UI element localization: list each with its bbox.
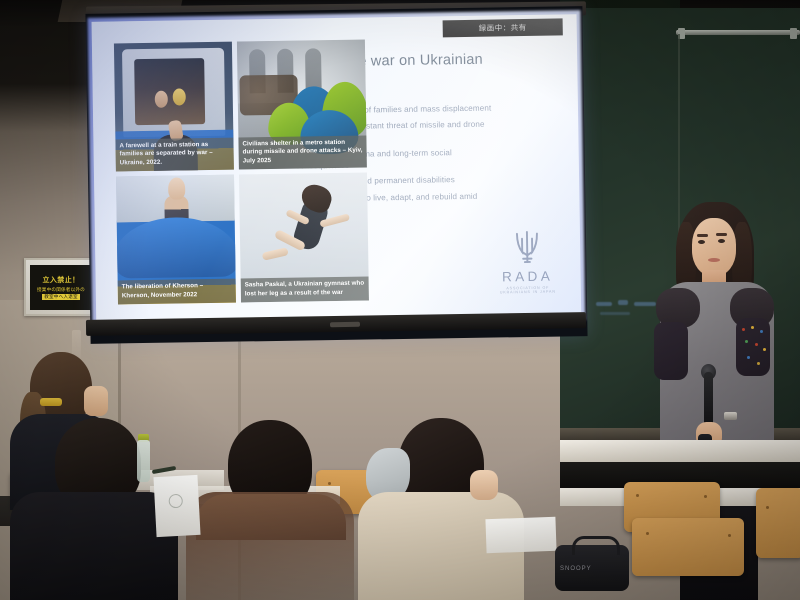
bag-handle [572, 536, 620, 555]
child-on-shoulders [168, 177, 185, 199]
student-hand [470, 470, 498, 500]
embroidery-stitch [760, 330, 763, 333]
chalkboard-rail-clip [790, 28, 797, 39]
embroidery-stitch [751, 326, 754, 329]
embroidery-stitch [755, 343, 758, 346]
hoodie-collar [196, 494, 346, 540]
wall-notice-inner: 立入禁止！ 授業中の関係者以外の 教室中へ入退室 [30, 265, 92, 310]
projection-screen: 録画中：共有 Impact of the war on Ukrainian so… [85, 6, 587, 344]
embroidery-stitch [742, 328, 745, 331]
water-bottle [137, 440, 150, 482]
presenter-face [692, 218, 736, 276]
chair-screw [636, 494, 639, 497]
presenter-eyebrow [716, 233, 727, 236]
embroidery-panel-left [654, 322, 688, 380]
bag-brand-text: SNOOPY [560, 566, 592, 572]
desk-surface [560, 440, 800, 462]
chalk-mark [618, 300, 628, 305]
embroidery-stitch [757, 362, 760, 365]
chair-screw [766, 506, 769, 509]
student-hand [84, 386, 108, 416]
wall-sign-line1: 授業中の関係者以外の [37, 287, 85, 293]
train-window [134, 58, 205, 125]
embroidery-panel-right [736, 318, 770, 376]
handout-paper [485, 517, 556, 553]
wristwatch [724, 412, 737, 420]
presenter-eye [698, 240, 705, 244]
paper-stamp [168, 494, 183, 509]
photo-caption: Civilians shelter in a metro station dur… [238, 135, 366, 169]
chair-screw [704, 495, 707, 498]
recording-status-badge: 録画中：共有 [443, 18, 563, 37]
handout-paper [153, 475, 200, 537]
chair-screw [646, 532, 649, 535]
person-face [155, 91, 168, 108]
ukrainian-trident-icon [510, 227, 545, 268]
presenter-mouth [708, 258, 720, 262]
photo-caption: The liberation of Kherson – Kherson, Nov… [118, 279, 236, 305]
photo-caption: Sasha Paskal, a Ukrainian gymnast who lo… [241, 277, 369, 303]
embroidery-stitch [747, 356, 750, 359]
slide-photo-train-farewell: A farewell at a train station as familie… [114, 42, 234, 172]
screen-pull-nub [330, 322, 360, 327]
presenter-eye [718, 239, 725, 243]
slide-photo-gymnast: Sasha Paskal, a Ukrainian gymnast who lo… [239, 173, 369, 303]
hair-tie [40, 398, 62, 406]
student-torso [10, 492, 178, 600]
presenter-eyebrow [697, 234, 708, 237]
wall-sign-title: 立入禁止！ [43, 275, 80, 285]
microphone-handle [704, 372, 713, 428]
embroidery-stitch [763, 348, 766, 351]
chalk-mark [596, 302, 612, 306]
lecture-chair [632, 518, 744, 576]
chair-screw [328, 482, 331, 485]
person-face [173, 88, 186, 105]
chalkboard-rail [676, 30, 800, 35]
lecture-hall-photo: 立入禁止！ 授業中の関係者以外の 教室中へ入退室 録画中：共有 Impact o… [0, 0, 800, 600]
gymnast-leg [262, 247, 289, 261]
chalk-mark [600, 312, 630, 315]
embroidery-stitch [745, 340, 748, 343]
presentation-slide: 録画中：共有 Impact of the war on Ukrainian so… [92, 14, 582, 325]
rada-subtitle: ASSOCIATION OF UKRAINIANS IN JAPAN [492, 285, 564, 294]
photo-caption: A farewell at a train station as familie… [115, 138, 233, 172]
rada-wordmark: RADA [502, 269, 553, 285]
rada-logo: RADA ASSOCIATION OF UKRAINIANS IN JAPAN [491, 226, 564, 305]
slide-photo-kherson-liberation: The liberation of Kherson – Kherson, Nov… [116, 175, 236, 305]
wall-notice-sign: 立入禁止！ 授業中の関係者以外の 教室中へ入退室 [24, 258, 98, 316]
lecture-chair [756, 488, 800, 558]
slide-photo-metro-shelter: Civilians shelter in a metro station dur… [237, 40, 367, 170]
wall-sign-line2: 教室中へ入退室 [42, 294, 80, 300]
chair-screw [728, 534, 731, 537]
ukrainian-flag [116, 217, 236, 279]
